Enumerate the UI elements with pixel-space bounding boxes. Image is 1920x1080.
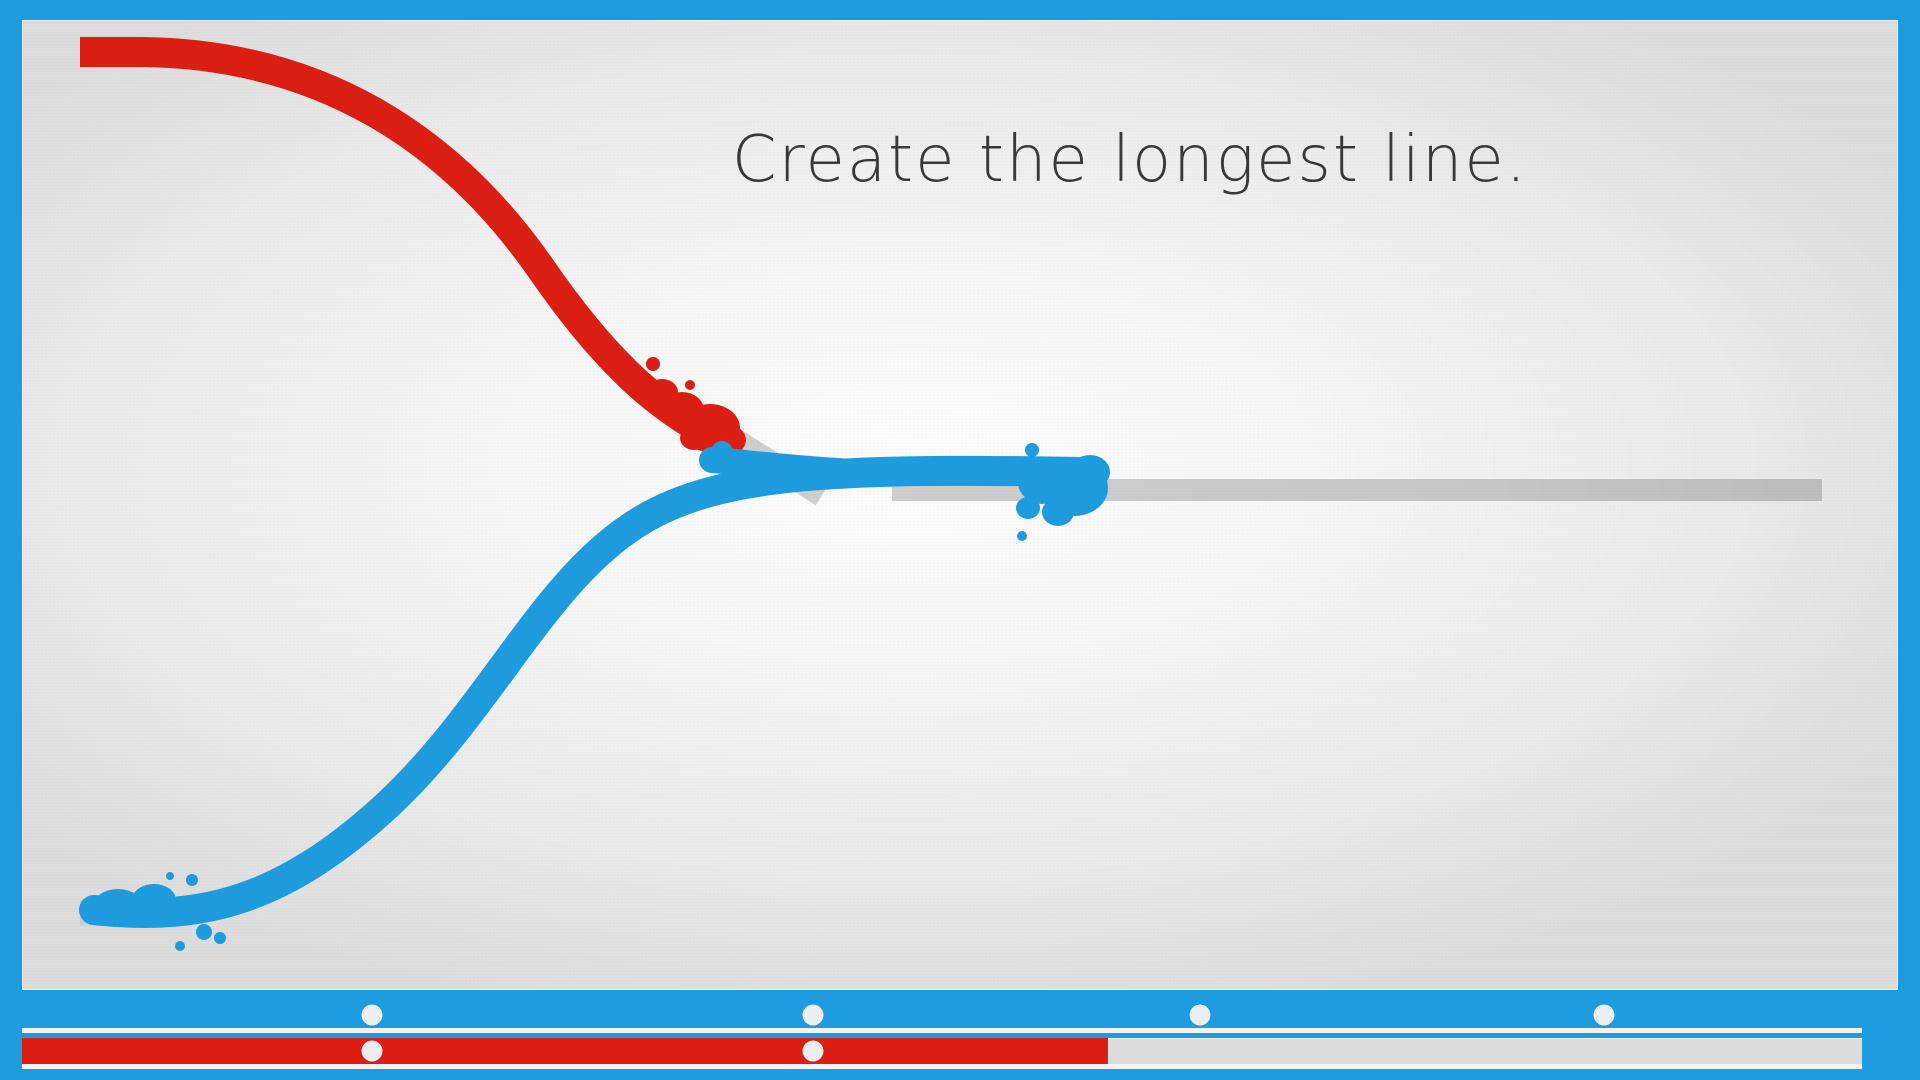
red-meter-fill <box>22 1038 1108 1064</box>
game-board[interactable]: Create the longest line. <box>22 20 1898 990</box>
blue-progress-meter[interactable] <box>22 1002 1862 1028</box>
meter-pip <box>803 1041 824 1062</box>
game-screen: Create the longest line. <box>0 0 1920 1080</box>
meter-pip <box>1189 1005 1210 1026</box>
page-title: Create the longest line. <box>192 128 1920 192</box>
meter-divider <box>22 1028 1862 1033</box>
meter-pip <box>361 1005 382 1026</box>
meter-pip <box>803 1005 824 1026</box>
blue-meter-fill <box>22 1002 1862 1028</box>
red-progress-meter[interactable] <box>22 1038 1862 1064</box>
meter-pip <box>361 1041 382 1062</box>
red-line <box>80 52 746 455</box>
meter-bottom-edge <box>22 1064 1862 1069</box>
progress-meters <box>0 988 1920 1080</box>
blue-line <box>92 443 1110 951</box>
meter-pip <box>1594 1005 1615 1026</box>
